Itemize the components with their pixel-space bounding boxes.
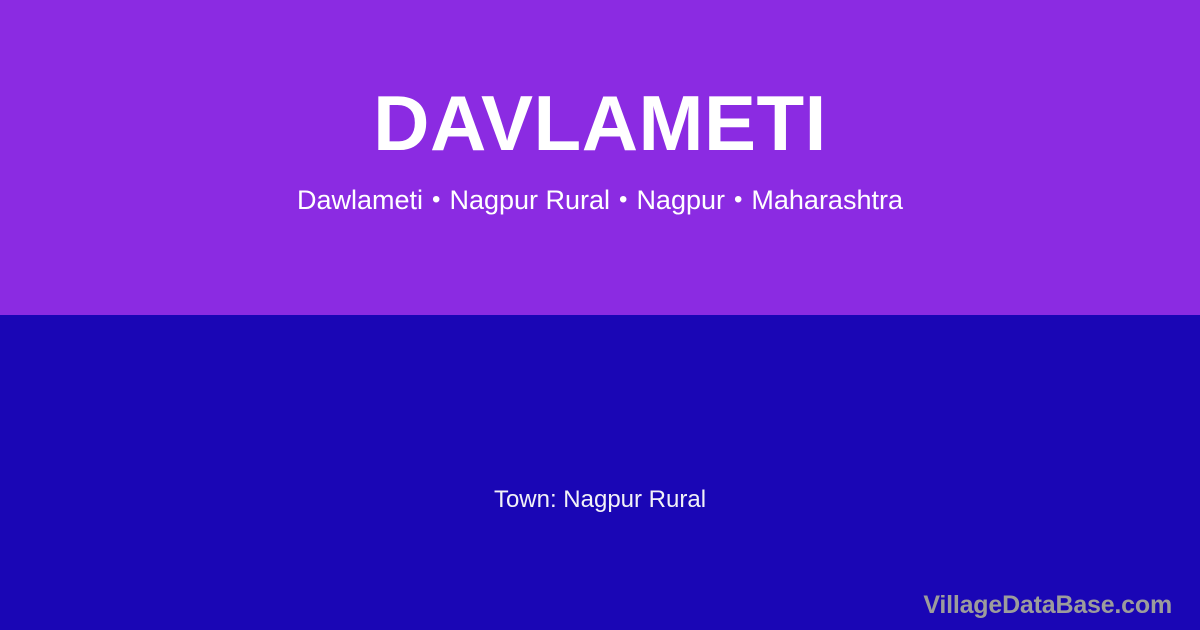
breadcrumb-item-town: Nagpur Rural	[449, 185, 610, 215]
breadcrumb-separator: •	[734, 186, 742, 215]
breadcrumb-item-state: Maharashtra	[751, 185, 903, 215]
fact-town: Town: Nagpur Rural	[494, 485, 706, 515]
breadcrumb-item-district: Nagpur	[636, 185, 725, 215]
hero-header: DAVLAMETI Dawlameti•Nagpur Rural•Nagpur•…	[0, 0, 1200, 315]
breadcrumb-separator: •	[619, 186, 627, 215]
page-title: DAVLAMETI	[373, 84, 827, 162]
breadcrumb-item-village: Dawlameti	[297, 185, 423, 215]
breadcrumb-separator: •	[432, 186, 440, 215]
breadcrumb: Dawlameti•Nagpur Rural•Nagpur•Maharashtr…	[297, 184, 903, 216]
fact-list: Town: Nagpur Rural	[0, 485, 1200, 515]
village-info-card: DAVLAMETI Dawlameti•Nagpur Rural•Nagpur•…	[0, 0, 1200, 630]
body-section: Town: Nagpur Rural VillageDataBase.com	[0, 315, 1200, 630]
site-watermark: VillageDataBase.com	[923, 593, 1172, 618]
